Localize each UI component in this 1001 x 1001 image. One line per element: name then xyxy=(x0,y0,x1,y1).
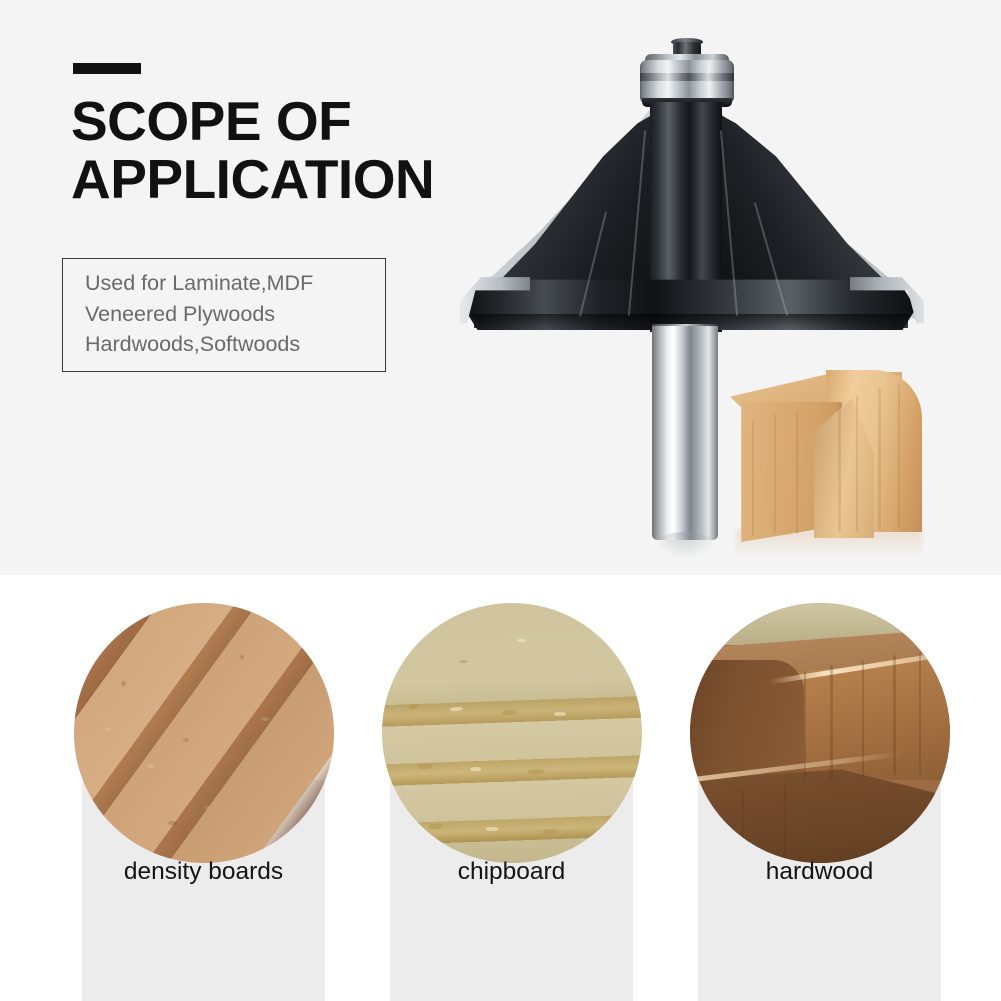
usage-info-box: Used for Laminate,MDF Veneered Plywoods … xyxy=(62,258,386,372)
wood-grain-line xyxy=(752,420,754,536)
usage-line: Hardwoods,Softwoods xyxy=(85,329,371,360)
wood-grain-line xyxy=(898,384,900,528)
density-boards-photo xyxy=(74,603,334,863)
accent-dash-icon xyxy=(73,63,141,74)
wood-grain-line xyxy=(838,402,841,532)
chipboard-photo xyxy=(382,603,642,863)
router-bit-illustration xyxy=(440,10,960,575)
wood-grain-line xyxy=(878,388,881,530)
bearing-groove xyxy=(640,73,734,81)
material-card-density-boards[interactable]: density boards xyxy=(62,575,345,1001)
material-label: hardwood xyxy=(698,858,941,886)
usage-line: Veneered Plywoods xyxy=(85,299,371,330)
hardwood-photo xyxy=(690,603,950,863)
material-card-chipboard[interactable]: chipboard xyxy=(370,575,653,1001)
page-title: SCOPE OF APPLICATION xyxy=(71,92,491,209)
steel-shank xyxy=(652,326,718,540)
wood-grain-line xyxy=(774,414,776,534)
hardwood-texture xyxy=(690,603,950,863)
material-label: density boards xyxy=(82,858,325,886)
material-card-hardwood[interactable]: hardwood xyxy=(678,575,961,1001)
chipboard-texture xyxy=(382,603,642,863)
scope-of-application-panel: SCOPE OF APPLICATION Used for Laminate,M… xyxy=(0,0,1001,575)
mdf-texture xyxy=(74,603,334,863)
hardwood-lower-board xyxy=(690,769,950,863)
rounded-edge-wood-block xyxy=(730,362,920,542)
materials-gallery: density boards chipboard xyxy=(0,575,1001,1001)
wood-grain-line xyxy=(856,396,858,532)
material-label: chipboard xyxy=(390,858,633,886)
wood-grain-line xyxy=(796,410,798,534)
usage-line: Used for Laminate,MDF xyxy=(85,268,371,299)
shank-reflection xyxy=(654,532,716,558)
